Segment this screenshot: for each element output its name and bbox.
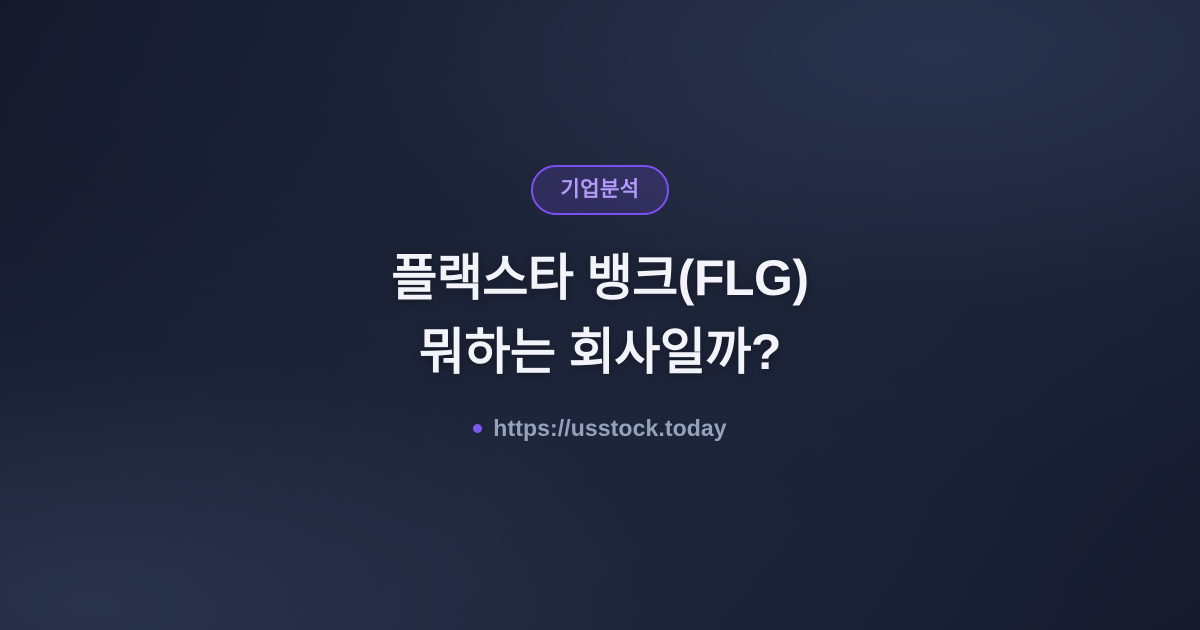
- og-image-card: 기업분석 플랙스타 뱅크(FLG) 뭐하는 회사일까? https://usst…: [0, 0, 1200, 630]
- page-title-line-2: 뭐하는 회사일까?: [391, 315, 808, 389]
- category-badge-label: 기업분석: [561, 179, 640, 200]
- bullet-dot-icon: [473, 424, 482, 433]
- site-url: https://usstock.today: [473, 415, 726, 442]
- card-content: 기업분석 플랙스타 뱅크(FLG) 뭐하는 회사일까? https://usst…: [0, 165, 1200, 442]
- page-title-line-1: 플랙스타 뱅크(FLG): [391, 241, 808, 315]
- page-title: 플랙스타 뱅크(FLG) 뭐하는 회사일까?: [391, 241, 808, 389]
- category-badge: 기업분석: [531, 165, 670, 215]
- site-url-text: https://usstock.today: [493, 415, 726, 442]
